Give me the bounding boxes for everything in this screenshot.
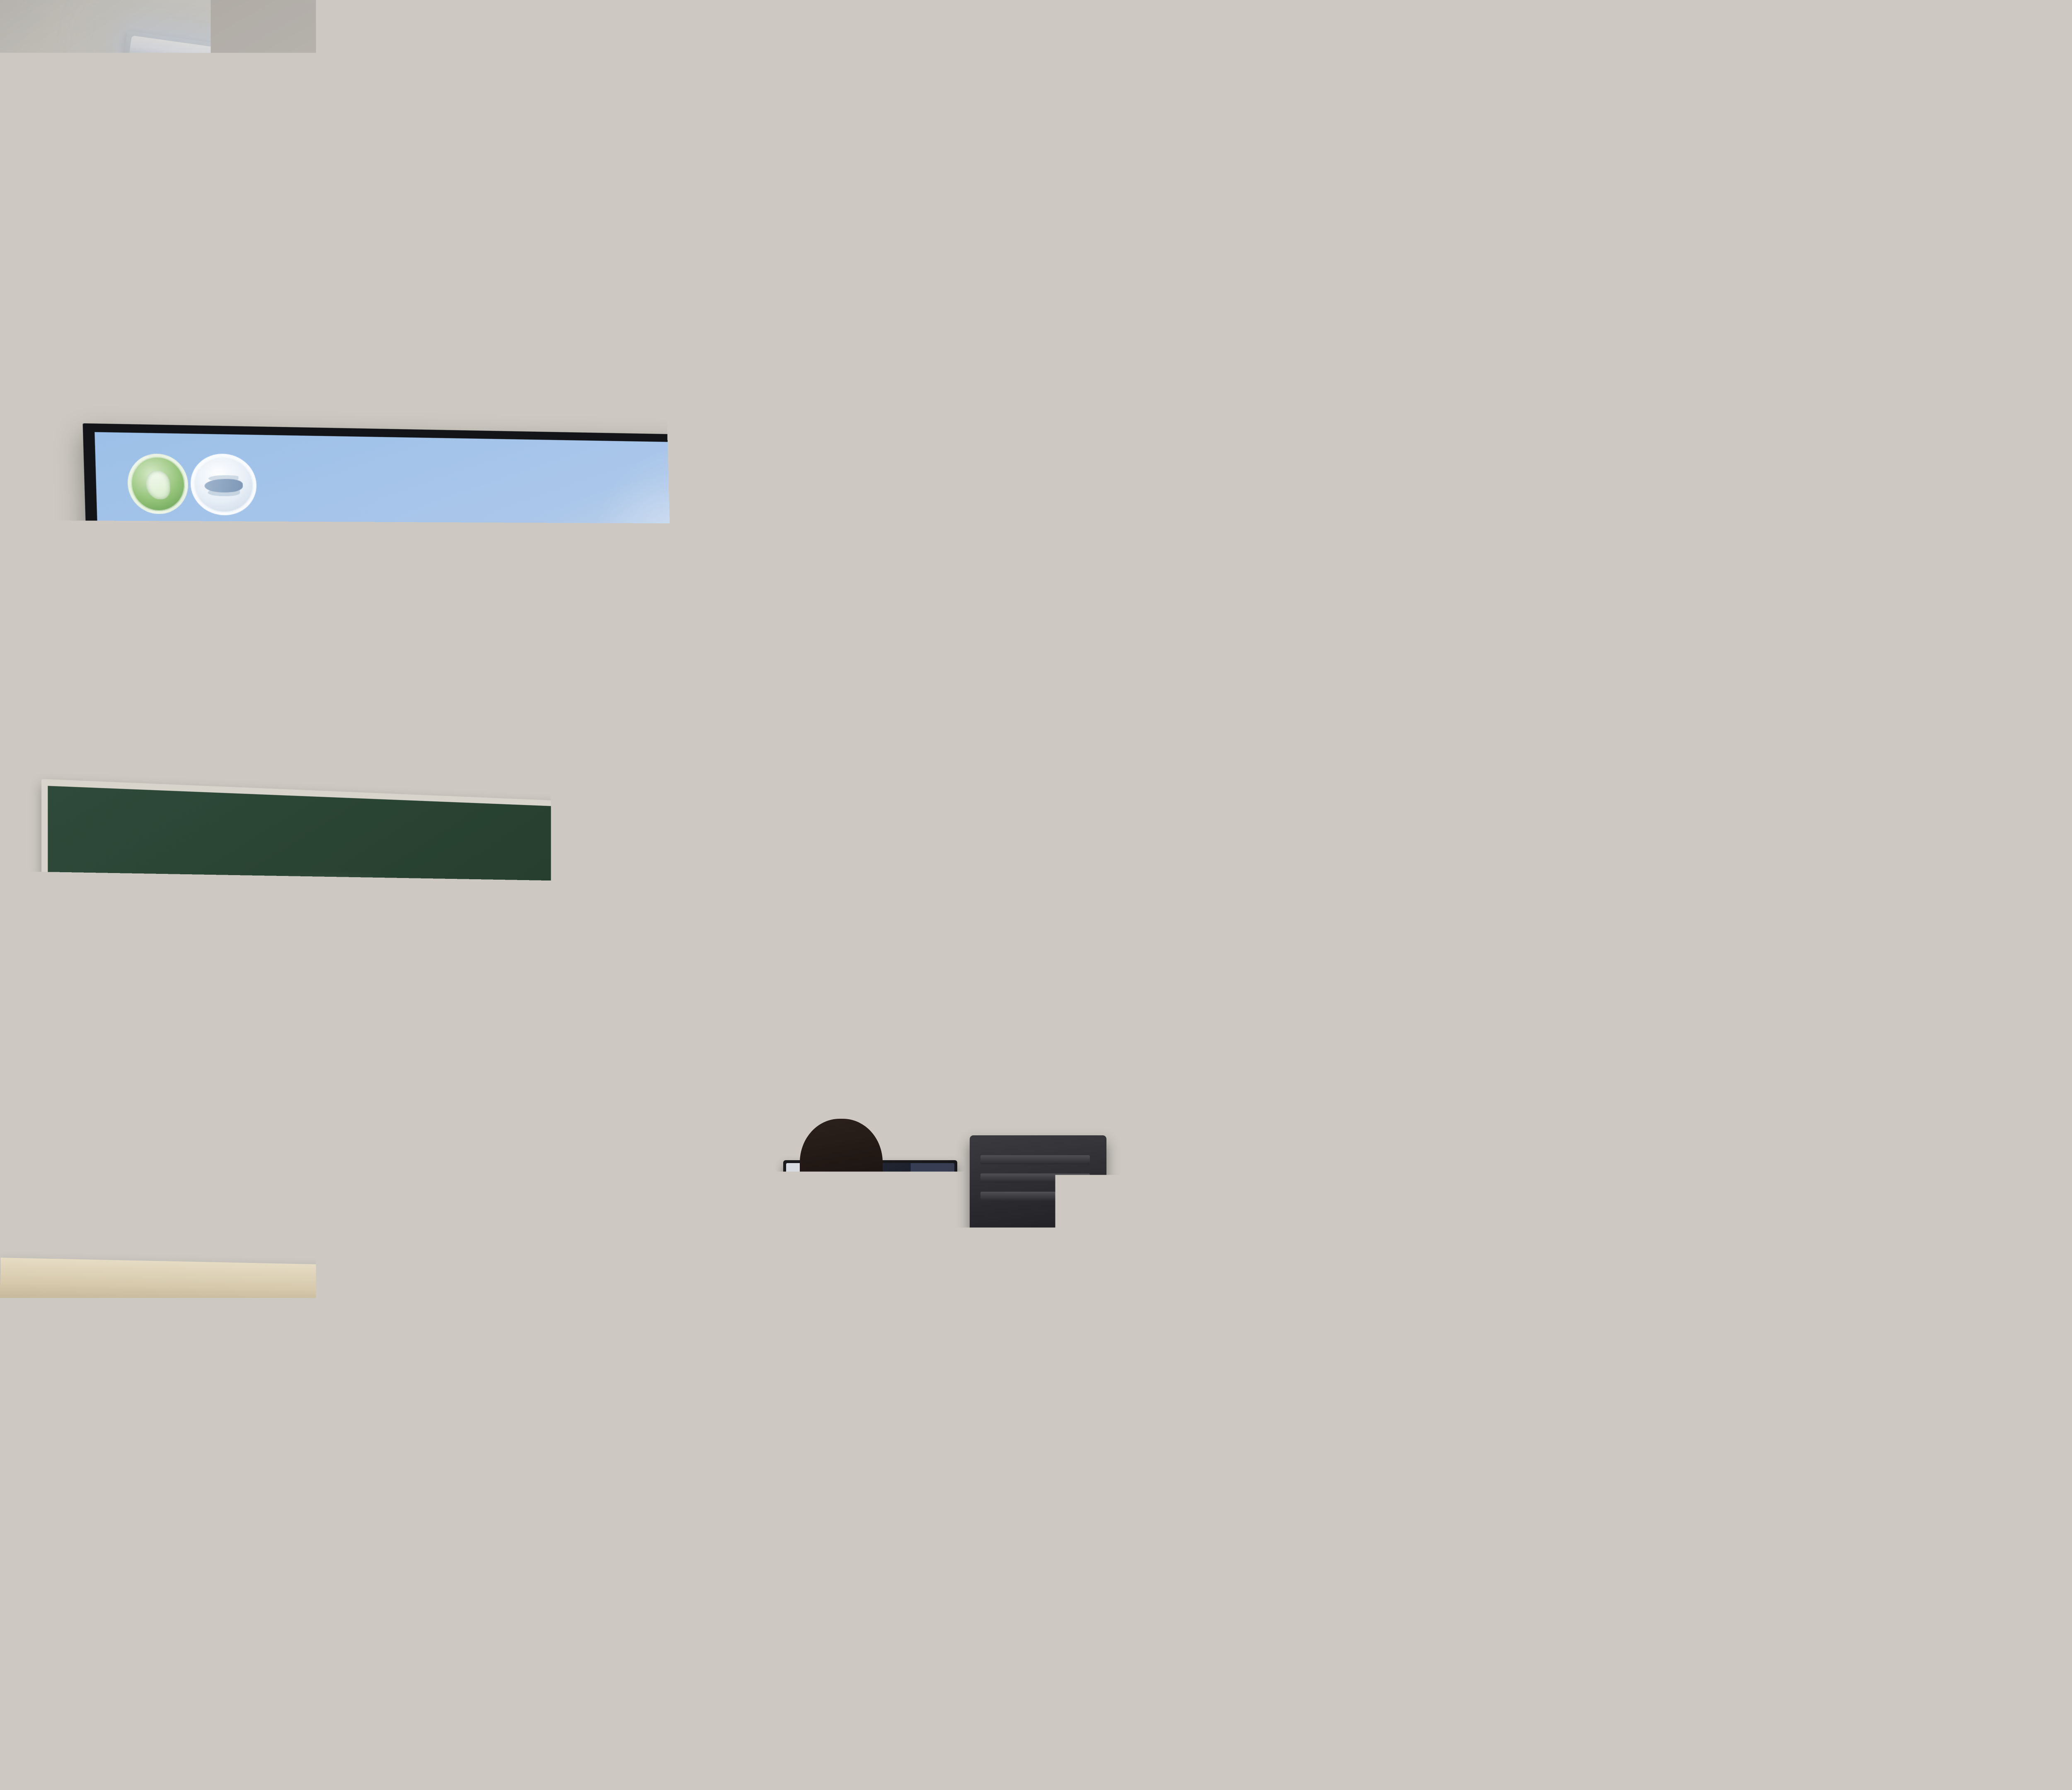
student-foreground-center <box>879 1309 1334 1790</box>
poster-header-text: 北海艺术设计学院 <box>1029 963 1089 973</box>
core-value-word: 平等 <box>1034 878 1050 889</box>
poster-line <box>1000 699 1062 702</box>
ceiling-fan <box>1082 0 1247 195</box>
presenter-badge-icon <box>1185 1081 1211 1106</box>
projection-screen-right: 关爱水生野生动物 维护海洋生物多样性 广西合浦儒艮国家级自然保护区管理中心 吴沅… <box>1242 416 2072 1089</box>
poster-line <box>1000 632 1099 635</box>
student-hair-bun <box>932 1218 1011 1284</box>
core-value-word: 和谐 <box>1077 864 1093 876</box>
school-logo-icon <box>1004 585 1018 599</box>
slide-logos <box>1276 486 1391 552</box>
school-logo-icon <box>1015 963 1026 973</box>
wall-speaker: HiVi <box>22 546 191 642</box>
poster-blue-header: 北海艺术设计学院 <box>991 573 1111 611</box>
presenter-badge-icon <box>1217 1077 1242 1103</box>
poster-line <box>1000 706 1088 709</box>
chalk-smudge <box>461 931 660 1017</box>
speaker-bracket <box>104 513 152 546</box>
student-torso <box>879 1508 1334 1790</box>
slide-canvas-right: 关爱水生野生动物 维护海洋生物多样性 广西合浦儒艮国家级自然保护区管理中心 吴沅… <box>1251 425 2072 1079</box>
core-value-word: 民主 <box>1034 864 1050 876</box>
nature-reserve-emblem-icon <box>127 453 189 514</box>
core-values-title-line1: 社会主义 <box>1005 827 1101 842</box>
poster-line <box>1002 1001 1094 1003</box>
bottle-cap <box>1738 1200 1765 1223</box>
poster-line <box>1000 639 1039 642</box>
poster-line <box>1000 647 1101 650</box>
student-torso <box>1326 1467 1616 1711</box>
core-value-word: 诚信 <box>1055 892 1071 903</box>
glasses-lens <box>1150 973 1193 1001</box>
fan-rod <box>288 29 293 186</box>
poster-line <box>1002 1006 1082 1009</box>
glasses-bridge <box>1137 984 1150 987</box>
student-head <box>671 1247 804 1396</box>
slide-title-line1: 关爱水生野生动物 <box>99 584 975 665</box>
speaker-badge <box>165 607 180 620</box>
ceiling-fan <box>1732 50 1923 215</box>
slide-title-line2: 维护海洋生物多样性 <box>1255 693 2072 795</box>
student-grey-hoodie <box>1326 1243 1616 1711</box>
student-torso <box>315 1666 688 1790</box>
core-value-word: 爱国 <box>1012 892 1028 903</box>
student-foreground-right2 <box>1600 1500 1973 1790</box>
glasses-lens <box>1094 973 1137 1001</box>
presenter-arm-patch <box>1229 1119 1267 1168</box>
chalk-smudge <box>202 867 461 971</box>
ceiling-fan <box>203 29 377 261</box>
chalkboard <box>41 779 773 1094</box>
poster-line <box>1002 1012 1090 1014</box>
core-value-word: 自由 <box>1012 878 1028 889</box>
core-value-word: 公正 <box>1055 878 1071 889</box>
core-value-word: 文明 <box>1055 864 1071 876</box>
fan-rod <box>1825 50 1830 116</box>
microphone-head <box>969 1050 990 1072</box>
poster-line <box>1000 684 1100 687</box>
poster-title: 机房管理制度 <box>991 616 1111 631</box>
presenter-glasses-icon <box>1094 973 1198 1002</box>
core-value-word: 富强 <box>1012 864 1028 876</box>
slide-presenter-line: 广西合浦儒艮国家级自然保护区管理中心 吴沅珈 <box>1258 856 2072 900</box>
poster-line <box>1000 662 1022 665</box>
student-torso <box>1600 1641 1973 1790</box>
core-value-word: 法治 <box>1077 878 1093 889</box>
classroom-photo-scene: 关爱水生野生动物 维护海洋生物多样性 广西合浦儒艮国家级自然保护区管理中心 吴沅… <box>0 0 2072 1790</box>
nature-reserve-emblem-icon <box>1276 489 1329 551</box>
slide-logos <box>127 452 257 515</box>
presenter-clicker[interactable] <box>1115 1231 1185 1255</box>
fan-rod <box>1162 0 1167 98</box>
poster-header-text: 北海艺术设计学院 <box>1021 585 1099 598</box>
slide-date: 2025年12月5日 <box>1259 929 2072 966</box>
poster-core-values: 社会主义 核心价值观 富强 民主 文明 和谐 自由 平等 公正 法治 爱国 敬业… <box>995 772 1110 946</box>
flame-emblem-icon <box>1031 777 1074 815</box>
chalk-tray <box>29 1077 765 1102</box>
poster-line <box>1000 654 1094 657</box>
presenter-tie <box>1131 1036 1155 1210</box>
core-values-title-line2: 核心价值观 <box>1005 842 1101 858</box>
color-picker-icon <box>1670 1200 1706 1233</box>
core-values-card: 社会主义 核心价值观 富强 民主 文明 和谐 自由 平等 公正 法治 爱国 敬业… <box>1005 821 1101 938</box>
poster-line <box>1000 692 1092 694</box>
student-foreground-left2 <box>315 1533 688 1790</box>
poster-lab-rules: 北海艺术设计学院 机房管理制度 <box>991 573 1111 747</box>
poster-body-lines <box>1000 632 1103 714</box>
poster-line <box>1000 669 1097 672</box>
core-value-word: 敬业 <box>1034 892 1050 903</box>
white-marker-object <box>1271 1210 1303 1322</box>
dugong-emblem-icon <box>190 453 257 515</box>
core-values-word-list: 富强 民主 文明 和谐 自由 平等 公正 法治 爱国 敬业 诚信 友善 <box>1005 864 1101 903</box>
dugong-emblem-icon <box>1330 486 1391 549</box>
speaker-brand-label: HiVi <box>49 581 104 600</box>
poster-line <box>1000 677 1041 680</box>
core-value-word: 友善 <box>1077 892 1093 903</box>
